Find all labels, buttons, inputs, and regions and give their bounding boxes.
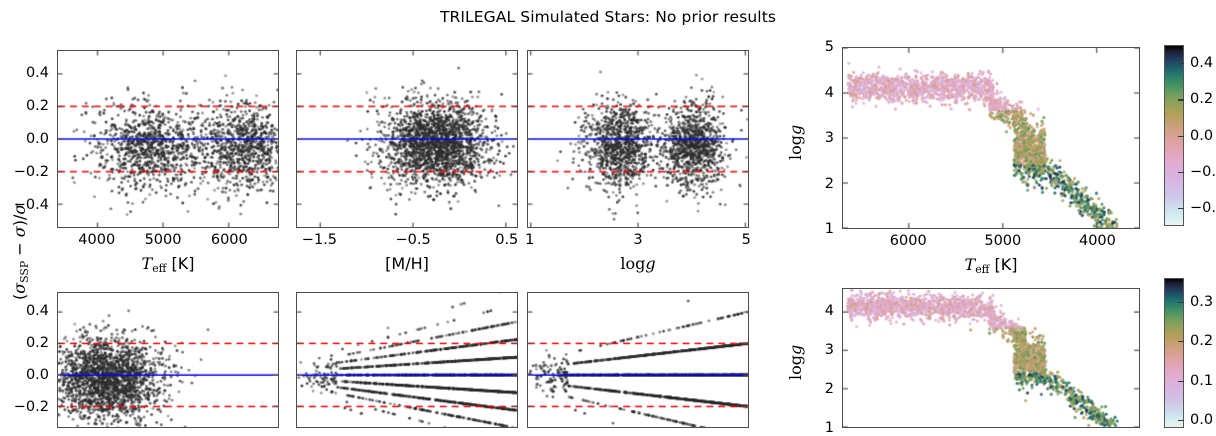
colorbar-tick-label: 0.1 bbox=[1190, 373, 1213, 389]
kiel-y-tick-label: 2 bbox=[798, 381, 834, 397]
kiel-scatter-canvas bbox=[843, 48, 1139, 228]
colorbar-tick-mark bbox=[1178, 172, 1184, 173]
kiel-y-tick-label: 1 bbox=[798, 420, 834, 436]
colorbar-tick-mark bbox=[1178, 99, 1184, 100]
kiel-x-tick-label: 5000 bbox=[984, 233, 1021, 249]
colorbar-bottom[interactable] bbox=[1164, 278, 1184, 428]
figure-title: TRILEGAL Simulated Stars: No prior resul… bbox=[0, 8, 1216, 26]
residual-scatter-canvas bbox=[58, 293, 278, 427]
x-tick-label: 5 bbox=[742, 232, 751, 248]
kiel-y-tick-label: 4 bbox=[798, 303, 834, 319]
colorbar-tick-label: 0.0 bbox=[1190, 412, 1213, 428]
x-tick-label: 3 bbox=[633, 232, 642, 248]
kiel-x-tick-label: 4000 bbox=[1079, 233, 1116, 249]
residual-scatter-canvas bbox=[297, 293, 517, 427]
x-tick-label: 0.5 bbox=[495, 232, 518, 248]
y-tick-label: −0.2 bbox=[0, 399, 49, 415]
colorbar-tick-label: 0.2 bbox=[1190, 333, 1213, 349]
x-tick-label: 6000 bbox=[211, 232, 248, 248]
colorbar-tick-mark bbox=[1178, 208, 1184, 209]
kiel-y-tick-label: 2 bbox=[798, 176, 834, 192]
residual-panel-bot-logg[interactable] bbox=[527, 292, 749, 428]
kiel-y-tick-label: 4 bbox=[798, 85, 834, 101]
x-tick-label: 4000 bbox=[78, 232, 115, 248]
y-tick-label: 0.2 bbox=[0, 335, 49, 351]
residual-panel-bot-teff[interactable] bbox=[57, 292, 279, 428]
y-tick-label: −0.2 bbox=[0, 164, 49, 180]
x-axis-label-top-mh: [M/H] bbox=[385, 254, 429, 273]
x-axis-label-top-logg: logg bbox=[620, 254, 655, 273]
y-tick-label: 0.0 bbox=[0, 131, 49, 147]
y-tick-label: −0.4 bbox=[0, 197, 49, 213]
x-tick-label: 5000 bbox=[145, 232, 182, 248]
colorbar-tick-label: 0.0 bbox=[1190, 128, 1213, 144]
colorbar-tick-label: 0.4 bbox=[1190, 55, 1213, 71]
residual-scatter-canvas bbox=[528, 51, 748, 227]
residual-y-axis-label: (σSSP − σ)/σ bbox=[10, 204, 31, 300]
kiel-x-axis-label: Teff [K] bbox=[965, 255, 1018, 276]
y-tick-label: 0.4 bbox=[0, 65, 49, 81]
y-tick-label: 0.4 bbox=[0, 303, 49, 319]
x-tick-label: −0.5 bbox=[395, 232, 430, 248]
kiel-scatter-canvas bbox=[843, 289, 1139, 427]
colorbar-tick-mark bbox=[1178, 63, 1184, 64]
colorbar-tick-label: 0.2 bbox=[1190, 91, 1213, 107]
figure-root: TRILEGAL Simulated Stars: No prior resul… bbox=[0, 0, 1216, 428]
x-tick-label: −1.5 bbox=[302, 232, 337, 248]
colorbar-tick-mark bbox=[1178, 420, 1184, 421]
colorbar-tick-label: −0.2 bbox=[1190, 164, 1216, 180]
y-tick-label: 0.0 bbox=[0, 367, 49, 383]
residual-panel-top-logg[interactable] bbox=[527, 50, 749, 228]
kiel-panel-kiel-top[interactable] bbox=[842, 47, 1140, 229]
residual-panel-top-teff[interactable] bbox=[57, 50, 279, 228]
kiel-x-tick-label: 6000 bbox=[890, 233, 927, 249]
kiel-y-tick-label: 5 bbox=[798, 39, 834, 55]
residual-panel-bot-mh[interactable] bbox=[296, 292, 518, 428]
colorbar-tick-mark bbox=[1178, 381, 1184, 382]
y-tick-label: 0.2 bbox=[0, 98, 49, 114]
kiel-panel-kiel-bottom[interactable] bbox=[842, 288, 1140, 428]
kiel-y-tick-label: 1 bbox=[798, 221, 834, 237]
residual-scatter-canvas bbox=[528, 293, 748, 427]
residual-scatter-canvas bbox=[297, 51, 517, 227]
x-tick-label: 1 bbox=[525, 232, 534, 248]
x-axis-label-top-teff: Teff [K] bbox=[142, 254, 195, 275]
colorbar-tick-mark bbox=[1178, 341, 1184, 342]
residual-scatter-canvas bbox=[58, 51, 278, 227]
colorbar-tick-mark bbox=[1178, 302, 1184, 303]
colorbar-tick-label: −0.4 bbox=[1190, 200, 1216, 216]
kiel-y-axis-label: logg bbox=[786, 345, 805, 380]
kiel-y-axis-label: logg bbox=[786, 125, 805, 160]
residual-panel-top-mh[interactable] bbox=[296, 50, 518, 228]
colorbar-tick-mark bbox=[1178, 136, 1184, 137]
colorbar-tick-label: 0.3 bbox=[1190, 294, 1213, 310]
